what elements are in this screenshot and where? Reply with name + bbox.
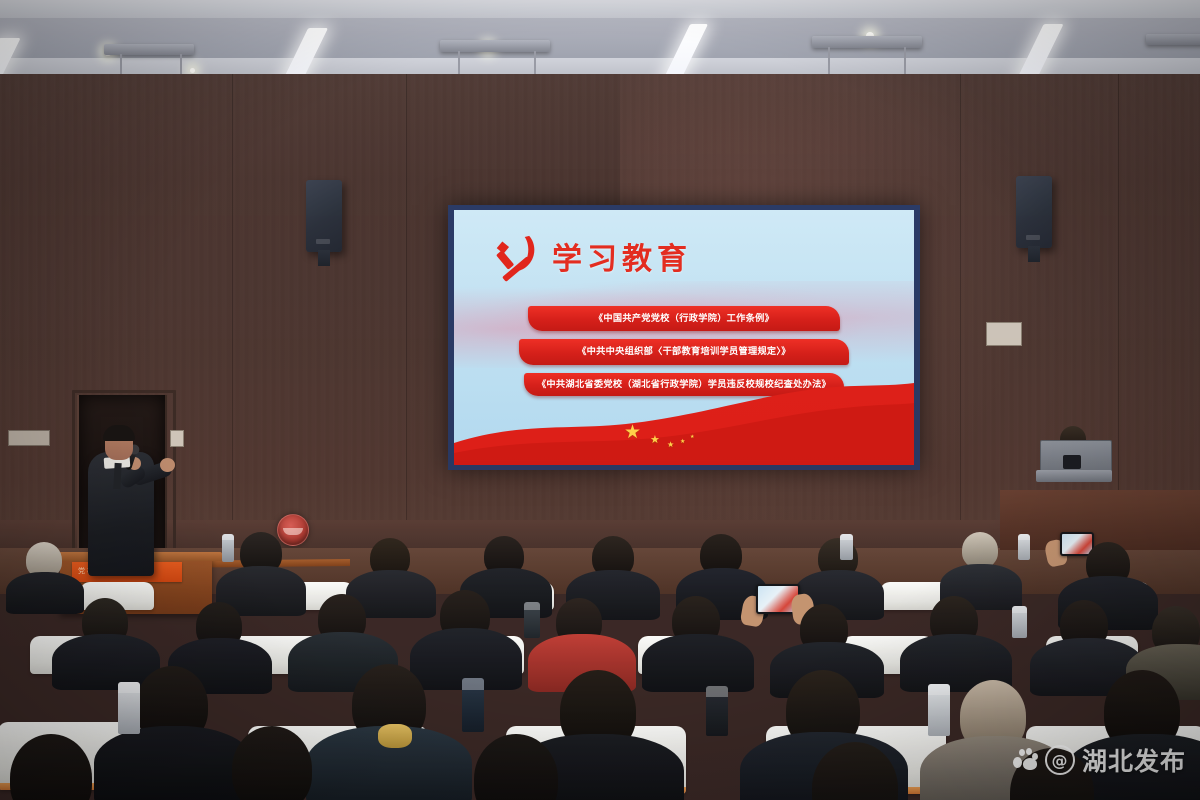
projection-screen: 学习教育 《中国共产党党校（行政学院）工作条例》 《中共中央组织部〈干部教育培训…: [454, 210, 914, 465]
star-icon: ★: [690, 435, 694, 440]
wall-mounted-loudspeaker: [306, 180, 342, 252]
projection-screen-frame: 学习教育 《中国共产党党校（行政学院）工作条例》 《中共中央组织部〈干部教育培训…: [448, 205, 920, 470]
loudspeaker-mount: [318, 250, 330, 266]
wall-panel-seam: [960, 74, 961, 550]
loudspeaker-mount: [1028, 246, 1040, 262]
star-icon: ★: [650, 435, 660, 446]
recessed-downlight: [190, 68, 195, 73]
vacuum-flask: [222, 534, 234, 562]
star-icon: ★: [624, 423, 641, 442]
vacuum-flask: [706, 686, 728, 736]
wall-panel-seam: [232, 74, 233, 550]
vacuum-flask: [1012, 606, 1027, 638]
vacuum-flask: [928, 684, 950, 736]
vacuum-flask: [524, 602, 540, 638]
ceiling-hung-unit: [1146, 34, 1200, 45]
speaker-hand-right: [160, 458, 175, 472]
speaker-hair: [103, 425, 135, 441]
ceiling-soffit: [0, 0, 1200, 18]
audience-hairclip: [378, 724, 412, 748]
wall-switch-plate[interactable]: [986, 322, 1022, 346]
slide-bullet-item: 《中国共产党党校（行政学院）工作条例》: [528, 306, 840, 331]
five-gold-stars: ★ ★ ★ ★ ★: [454, 417, 914, 457]
wall-switch-plate[interactable]: [170, 430, 184, 447]
audience-shoulders: [94, 726, 254, 800]
audience-shoulders: [642, 634, 754, 692]
laptop-keyboard[interactable]: [1036, 470, 1112, 482]
star-icon: ★: [667, 441, 674, 449]
speaker-tie: [113, 463, 121, 489]
vacuum-flask: [840, 534, 853, 560]
lecture-hall-photo: 学习教育 《中国共产党党校（行政学院）工作条例》 《中共中央组织部〈干部教育培训…: [0, 0, 1200, 800]
slide-bullet-item: 《中共中央组织部〈干部教育培训学员管理规定〉》: [519, 339, 849, 364]
wall-mounted-loudspeaker: [1016, 176, 1052, 248]
slide-title: 学习教育: [552, 234, 692, 278]
open-laptop[interactable]: [1040, 440, 1112, 474]
vacuum-flask: [462, 678, 484, 732]
wall-switch-plate[interactable]: [8, 430, 50, 446]
audience-head: [962, 532, 998, 568]
phone-screen: [1062, 534, 1092, 554]
vacuum-flask: [1018, 534, 1030, 560]
wall-panel-seam: [1118, 74, 1119, 550]
cpc-hammer-sickle-emblem: [490, 228, 546, 284]
wall-panel-seam: [406, 74, 407, 550]
audience-shoulders: [6, 572, 84, 614]
audience-area: 05 06 07: [0, 520, 1200, 800]
vacuum-flask: [118, 682, 140, 734]
star-icon: ★: [680, 439, 685, 445]
